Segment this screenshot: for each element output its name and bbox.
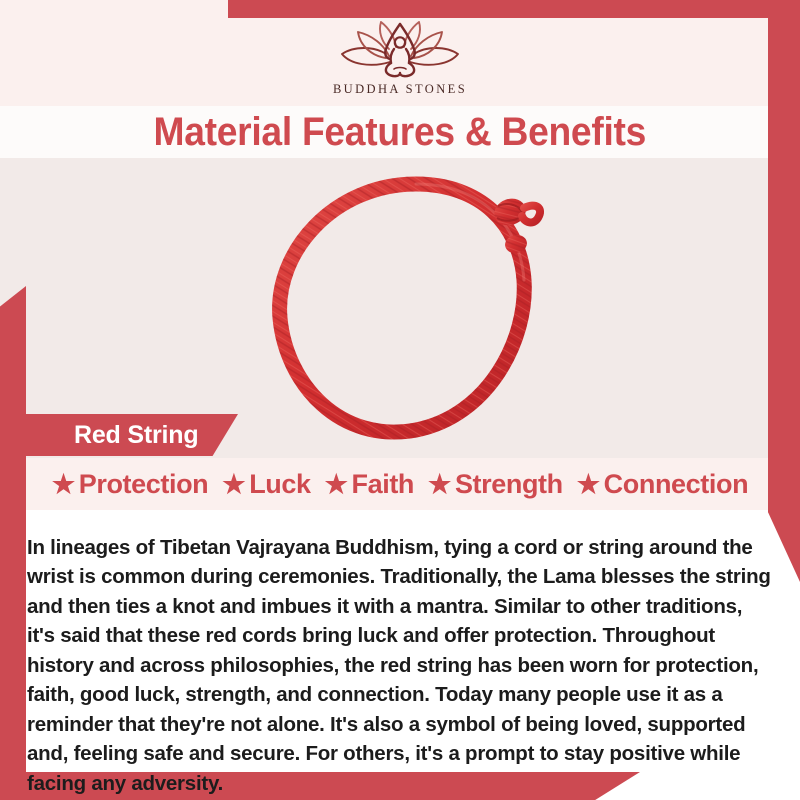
- star-icon: ★: [577, 471, 600, 497]
- feature-label: Faith: [352, 469, 415, 500]
- star-icon: ★: [325, 471, 348, 497]
- feature-item-faith: ★ Faith: [325, 469, 414, 500]
- feature-label: Strength: [455, 469, 563, 500]
- star-icon: ★: [222, 471, 245, 497]
- feature-item-protection: ★ Protection: [52, 469, 208, 500]
- product-label-banner: Red String: [26, 414, 238, 456]
- feature-list: ★ Protection ★ Luck ★ Faith ★ Strength ★…: [0, 462, 800, 506]
- feature-label: Protection: [79, 469, 209, 500]
- product-label: Red String: [74, 421, 198, 450]
- brand-header: BUDDHA STONES: [0, 18, 800, 106]
- brand-name: BUDDHA STONES: [333, 82, 467, 97]
- star-icon: ★: [428, 471, 451, 497]
- decorative-bar-top: [228, 0, 800, 18]
- infographic-page: BUDDHA STONES Material Features & Benefi…: [0, 0, 800, 800]
- red-braided-string-bracelet: [248, 168, 578, 448]
- page-title: Material Features & Benefits: [154, 110, 646, 155]
- feature-item-luck: ★ Luck: [222, 469, 310, 500]
- feature-item-strength: ★ Strength: [428, 469, 563, 500]
- decorative-bar-left: [0, 286, 26, 800]
- star-icon: ★: [52, 471, 75, 497]
- feature-label: Connection: [604, 469, 749, 500]
- feature-item-connection: ★ Connection: [577, 469, 748, 500]
- lotus-meditation-icon: [334, 18, 466, 80]
- description-paragraph: In lineages of Tibetan Vajrayana Buddhis…: [27, 533, 775, 799]
- title-banner: Material Features & Benefits: [0, 106, 800, 158]
- feature-label: Luck: [249, 469, 310, 500]
